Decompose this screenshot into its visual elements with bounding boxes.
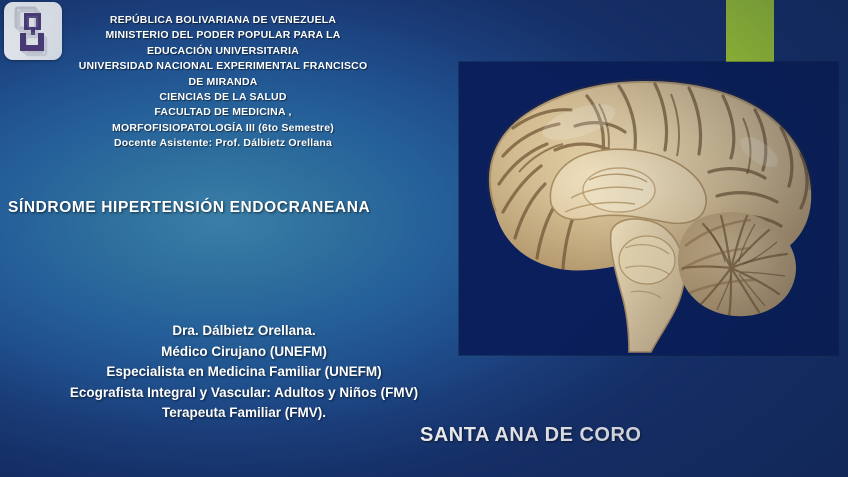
green-accent-bar [726, 0, 774, 63]
brain-sagittal-image [459, 62, 838, 355]
brain-illustration [459, 62, 838, 355]
header-line: EDUCACIÓN UNIVERSITARIA [0, 44, 446, 59]
footer-location: SANTA ANA DE CORO [420, 424, 641, 447]
header-line: FACULTAD DE MEDICINA , [0, 105, 446, 120]
credential-line: Especialista en Medicina Familiar (UNEFM… [0, 362, 488, 383]
header-line: REPÚBLICA BOLIVARIANA DE VENEZUELA [0, 13, 446, 28]
header-line: Docente Asistente: Prof. Dálbietz Orella… [0, 136, 446, 151]
credential-line: Terapeuta Familiar (FMV). [0, 403, 488, 424]
header-line: DE MIRANDA [0, 75, 446, 90]
header-line: CIENCIAS DE LA SALUD [0, 90, 446, 105]
header-line: MORFOFISIOPATOLOGÍA III (6to Semestre) [0, 121, 446, 136]
credential-line: Dra. Dálbietz Orellana. [0, 321, 488, 342]
header-line: MINISTERIO DEL PODER POPULAR PARA LA [0, 28, 446, 43]
credential-line: Médico Cirujano (UNEFM) [0, 342, 488, 363]
institutional-header: REPÚBLICA BOLIVARIANA DE VENEZUELA MINIS… [0, 13, 446, 152]
presentation-slide: REPÚBLICA BOLIVARIANA DE VENEZUELA MINIS… [0, 0, 848, 477]
header-line: UNIVERSIDAD NACIONAL EXPERIMENTAL FRANCI… [0, 59, 446, 74]
author-credentials: Dra. Dálbietz Orellana. Médico Cirujano … [0, 321, 488, 424]
slide-title: SÍNDROME HIPERTENSIÓN ENDOCRANEANA [8, 199, 370, 217]
credential-line: Ecografista Integral y Vascular: Adultos… [0, 383, 488, 404]
